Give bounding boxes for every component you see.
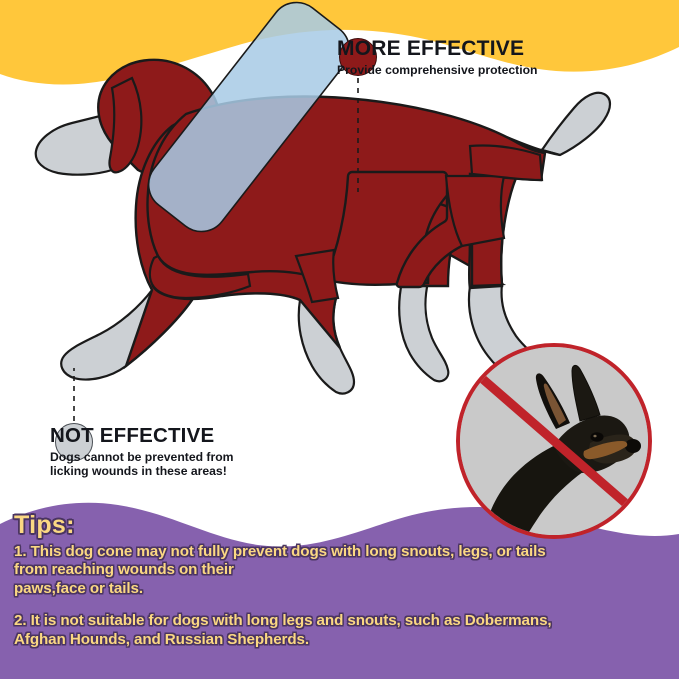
doberman-eye-highlight [593, 435, 596, 438]
tips-panel: Tips: 1. This dog cone may not fully pre… [0, 506, 679, 679]
tips-item2-line2: Afghan Hounds, and Russian Shepherds. [14, 631, 665, 650]
callout-not-subtext-line2: licking wounds in these areas! [50, 464, 360, 479]
callout-not-effective: NOT EFFECTIVE Dogs cannot be prevented f… [50, 425, 360, 479]
tips-item1-line2: from reaching wounds on their [14, 561, 665, 580]
tips-item1-line1: 1. This dog cone may not fully prevent d… [14, 543, 665, 562]
tips-title: Tips: [14, 512, 665, 540]
callout-not-subtext: Dogs cannot be prevented from licking wo… [50, 450, 360, 480]
infographic-canvas: MORE EFFECTIVE Provide comprehensive pro… [0, 0, 679, 679]
callout-more-heading: MORE EFFECTIVE [337, 38, 667, 60]
tips-spacer [14, 599, 665, 612]
callout-more-effective: MORE EFFECTIVE Provide comprehensive pro… [337, 38, 667, 78]
callout-not-heading: NOT EFFECTIVE [50, 425, 360, 447]
tips-item1-line3: paws,face or tails. [14, 580, 665, 599]
callout-more-subtext: Provide comprehensive protection [337, 63, 667, 78]
doberman-eye [591, 432, 604, 442]
doberman-nose [625, 439, 641, 453]
callout-not-subtext-line1: Dogs cannot be prevented from [50, 450, 360, 465]
tips-item2-line1: 2. It is not suitable for dogs with long… [14, 612, 665, 631]
